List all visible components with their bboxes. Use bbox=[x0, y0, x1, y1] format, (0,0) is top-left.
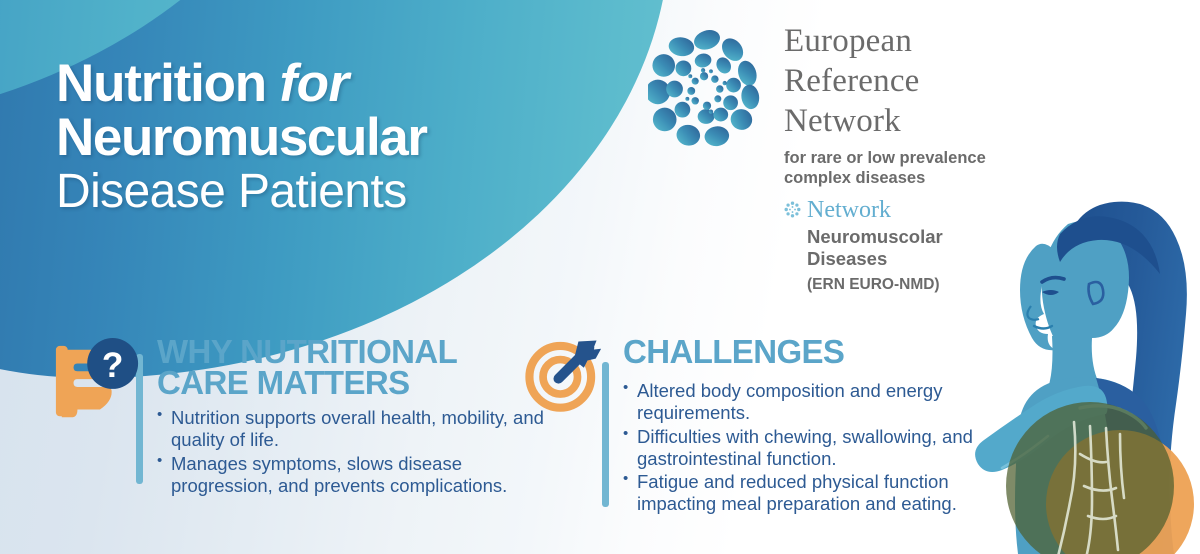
title-line-1: Nutrition for bbox=[56, 58, 616, 110]
network-dot-ring-icon bbox=[784, 201, 801, 218]
section-heading-line-1: CHALLENGES bbox=[623, 336, 994, 367]
section-heading-line-2: CARE MATTERS bbox=[157, 367, 552, 398]
page-title: Nutrition for Neuromuscular Disease Pati… bbox=[56, 58, 616, 218]
section-body: WHY NUTRITIONAL CARE MATTERS Nutrition s… bbox=[157, 336, 552, 498]
section-body: CHALLENGES Altered body composition and … bbox=[623, 336, 994, 517]
ern-name-line-3: Network bbox=[784, 102, 986, 142]
ern-name-line-1: European bbox=[784, 22, 986, 62]
section-heading-line-1: WHY NUTRITIONAL bbox=[157, 336, 552, 367]
ern-name: European Reference Network bbox=[784, 22, 986, 142]
ern-subtitle-line-2: complex diseases bbox=[784, 169, 986, 189]
infographic-canvas: Nutrition for Neuromuscular Disease Pati… bbox=[0, 0, 1200, 554]
ern-subtitle-line-1: for rare or low prevalence bbox=[784, 149, 986, 169]
ern-name-line-2: Reference bbox=[784, 62, 986, 102]
section-heading: CHALLENGES bbox=[623, 336, 994, 367]
list-item: Nutrition supports overall health, mobil… bbox=[157, 407, 552, 451]
ern-disease-name: Neuromuscolar Diseases bbox=[807, 226, 986, 272]
ern-network-row: Network bbox=[784, 198, 986, 222]
ern-subtitle: for rare or low prevalence complex disea… bbox=[784, 149, 986, 189]
ern-text-block: European Reference Network for rare or l… bbox=[784, 20, 986, 294]
section-why-nutritional-care-matters: ? WHY NUTRITIONAL CARE MATTERS Nutrition… bbox=[52, 336, 552, 498]
title-for: for bbox=[280, 54, 349, 113]
section-challenges: CHALLENGES Altered body composition and … bbox=[524, 336, 994, 517]
list-item: Altered body composition and energy requ… bbox=[623, 380, 994, 424]
title-line-3: Disease Patients bbox=[56, 167, 616, 218]
section-points-list: Altered body composition and energy requ… bbox=[623, 380, 994, 515]
list-item: Difficulties with chewing, swallowing, a… bbox=[623, 426, 994, 470]
list-item: Manages symptoms, slows disease progress… bbox=[157, 453, 552, 497]
ern-logo-block: European Reference Network for rare or l… bbox=[648, 20, 1078, 294]
title-line-2: Neuromuscular bbox=[56, 111, 616, 165]
ern-network-label: Network bbox=[807, 198, 891, 222]
section-points-list: Nutrition supports overall health, mobil… bbox=[157, 407, 552, 496]
ern-disease-line-2: Diseases bbox=[807, 248, 986, 271]
target-dart-icon bbox=[524, 336, 602, 517]
svg-text:?: ? bbox=[102, 346, 124, 385]
title-nutrition: Nutrition bbox=[56, 54, 266, 113]
hand-question-icon: ? bbox=[52, 336, 136, 498]
ern-disease-line-1: Neuromuscolar bbox=[807, 226, 986, 249]
list-item: Fatigue and reduced physical function im… bbox=[623, 471, 994, 515]
section-divider-bar bbox=[602, 362, 609, 507]
ern-acronym: (ERN EURO-NMD) bbox=[807, 276, 986, 294]
section-heading: WHY NUTRITIONAL CARE MATTERS bbox=[157, 336, 552, 398]
ern-spiral-dots-logo bbox=[648, 20, 766, 294]
